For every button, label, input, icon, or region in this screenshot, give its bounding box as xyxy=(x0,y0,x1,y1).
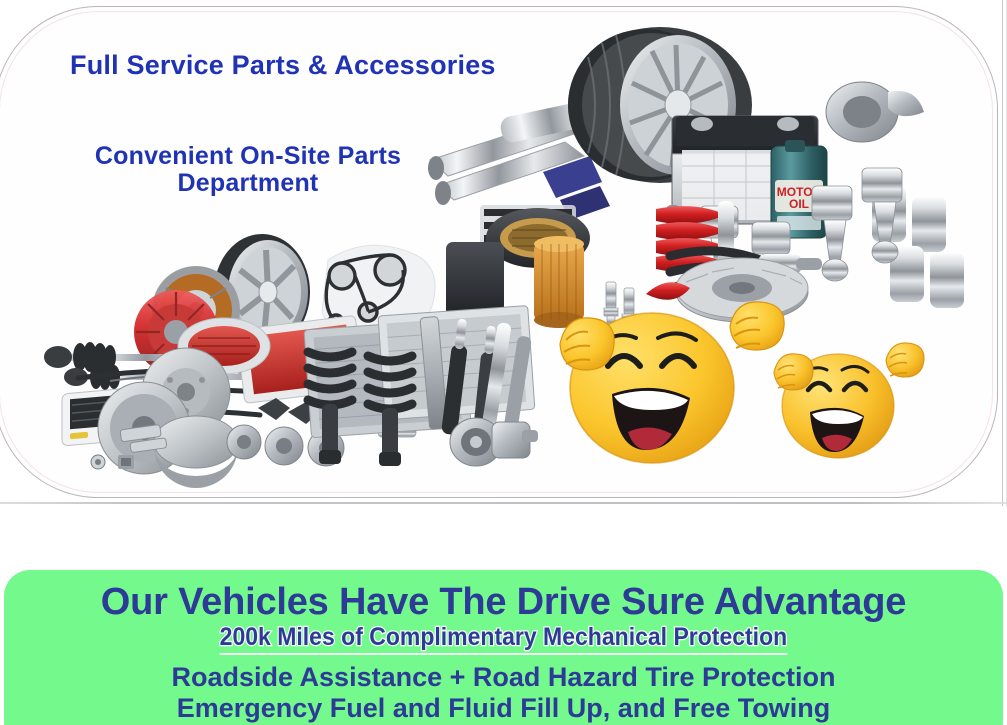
promo-benefit-line-1: Roadside Assistance + Road Hazard Tire P… xyxy=(4,662,1003,693)
headline-onsite-parts-department: Convenient On-Site Parts Department xyxy=(58,143,438,197)
promo-subhead: 200k Miles of Complimentary Mechanical P… xyxy=(220,622,788,655)
drive-sure-promo-banner: Our Vehicles Have The Drive Sure Advanta… xyxy=(4,570,1003,725)
promo-headline: Our Vehicles Have The Drive Sure Advanta… xyxy=(4,580,1003,624)
banner-canvas: MOTOR OIL xyxy=(0,0,1007,725)
promo-benefit-line-2: Emergency Fuel and Fluid Fill Up, and Fr… xyxy=(4,693,1003,724)
parts-card-inner-border xyxy=(0,11,993,493)
card-bottom-divider xyxy=(0,502,1007,504)
headline-full-service-parts: Full Service Parts & Accessories xyxy=(70,50,496,81)
promo-subhead-row: 200k Miles of Complimentary Mechanical P… xyxy=(4,622,1003,655)
graphic-right-edge-line xyxy=(1002,0,1003,506)
